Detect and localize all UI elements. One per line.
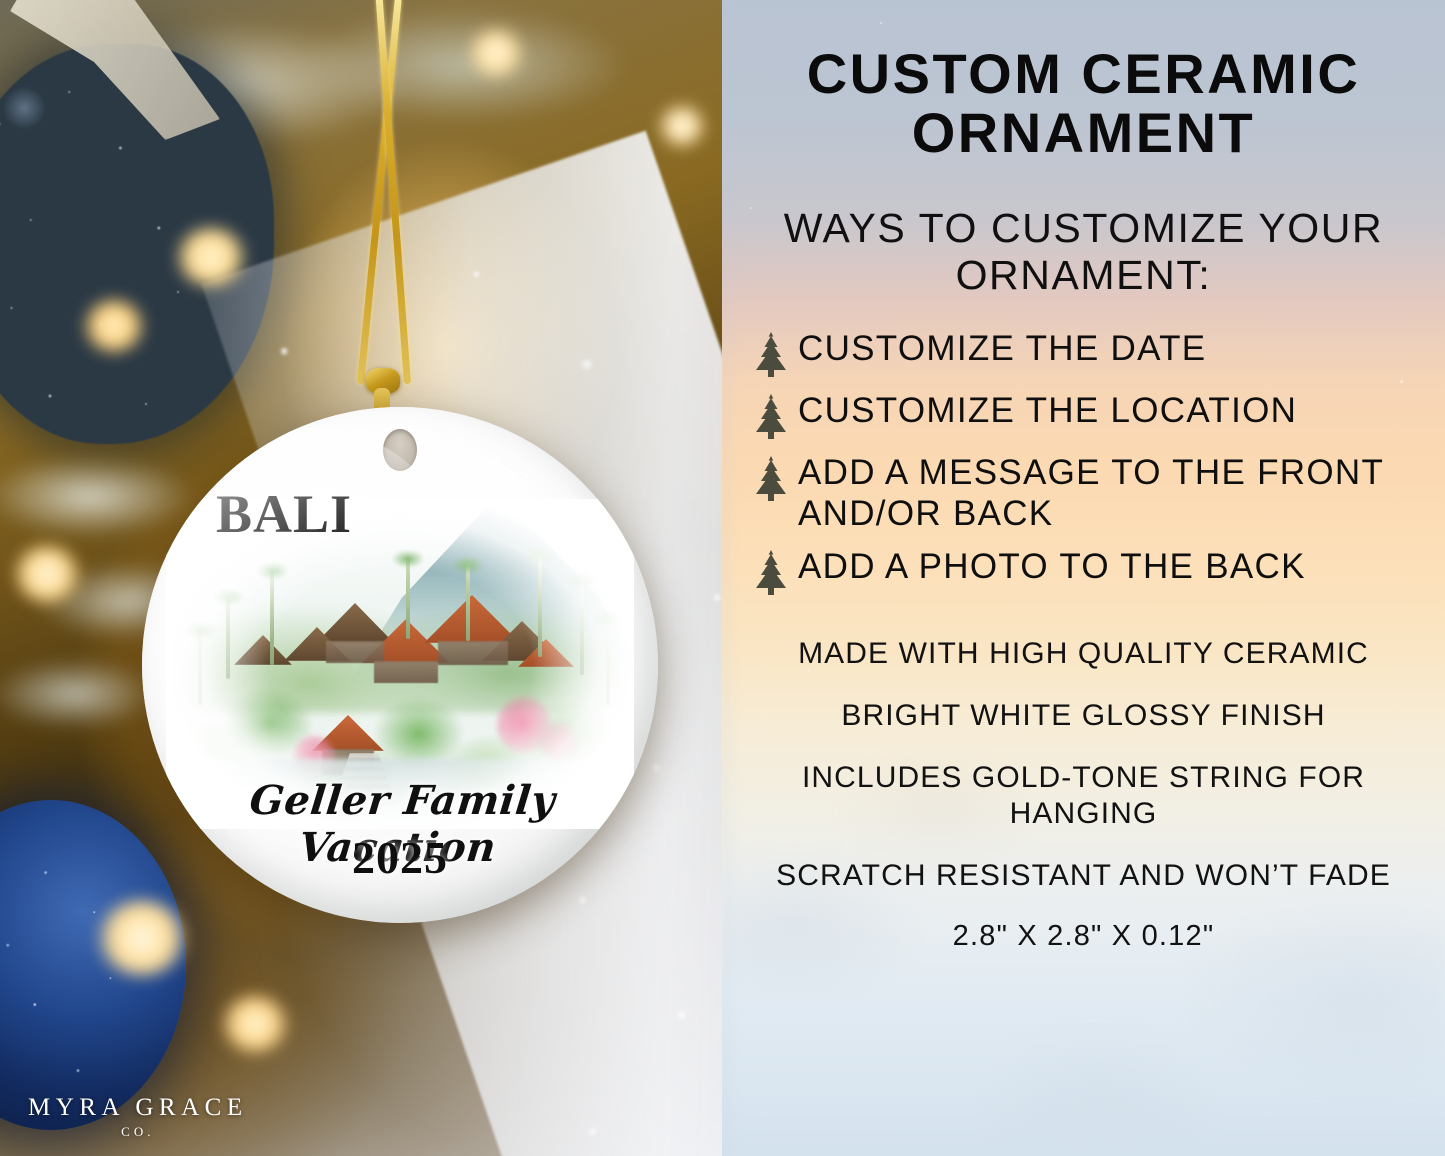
bokeh-light [222, 996, 288, 1052]
list-item: CUSTOMIZE THE LOCATION [754, 390, 1431, 440]
list-item: ADD A PHOTO TO THE BACK [754, 546, 1431, 596]
page-title: CUSTOM CERAMIC ORNAMENT [736, 44, 1431, 163]
spec-item: SCRATCH RESISTANT AND WON’T FADE [736, 858, 1431, 894]
spec-item: BRIGHT WHITE GLOSSY FINISH [736, 698, 1431, 734]
list-item-label: ADD A MESSAGE TO THE FRONT AND/OR BACK [798, 452, 1431, 535]
info-panel: CUSTOM CERAMIC ORNAMENT WAYS TO CUSTOMIZ… [722, 0, 1445, 1156]
product-dimensions: 2.8" X 2.8" X 0.12" [736, 920, 1431, 953]
customize-options-list: CUSTOMIZE THE DATE CUSTOMIZE THE LOCATIO… [736, 328, 1431, 597]
customize-subheading: WAYS TO CUSTOMIZE YOUR ORNAMENT: [736, 205, 1431, 300]
specifications-list: MADE WITH HIGH QUALITY CERAMIC BRIGHT WH… [736, 636, 1431, 953]
list-item: CUSTOMIZE THE DATE [754, 328, 1431, 378]
bokeh-light [14, 546, 80, 602]
spec-item: INCLUDES GOLD-TONE STRING FOR HANGING [736, 760, 1431, 832]
ornament-year: 2025 [142, 831, 658, 884]
list-item-label: CUSTOMIZE THE DATE [798, 328, 1206, 369]
ceramic-ornament: BALI Geller Family Vacation 2025 [142, 407, 658, 923]
brand-name: MYRA GRACE [28, 1094, 248, 1122]
product-photo-panel: BALI Geller Family Vacation 2025 MYRA GR… [0, 0, 722, 1156]
christmas-tree-icon [754, 456, 788, 502]
christmas-tree-icon [754, 332, 788, 378]
list-item-label: CUSTOMIZE THE LOCATION [798, 390, 1297, 431]
list-item-label: ADD A PHOTO TO THE BACK [798, 546, 1306, 587]
list-item: ADD A MESSAGE TO THE FRONT AND/OR BACK [754, 452, 1431, 535]
ornament-location-title: BALI [216, 487, 352, 541]
spec-item: MADE WITH HIGH QUALITY CERAMIC [736, 636, 1431, 672]
christmas-tree-icon [754, 394, 788, 440]
brand-suffix: CO. [28, 1124, 248, 1140]
christmas-tree-icon [754, 550, 788, 596]
bokeh-light [96, 900, 188, 976]
ornament-hole [383, 429, 417, 471]
listing-image: BALI Geller Family Vacation 2025 MYRA GR… [0, 0, 1445, 1156]
brand-logo: MYRA GRACE CO. [28, 1094, 248, 1140]
